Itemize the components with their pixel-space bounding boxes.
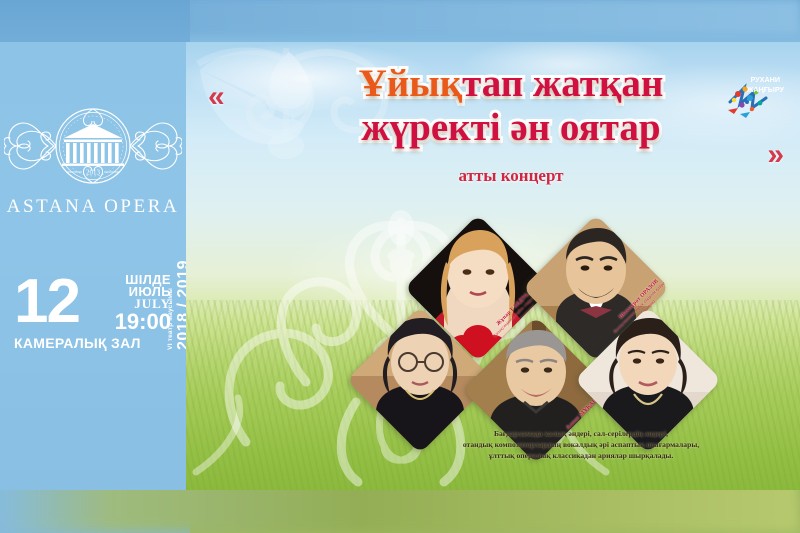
venue-hall: КАМЕРАЛЫҚ ЗАЛ [14,335,189,351]
rukhani-line2: ЖАҢҒЫРУ [746,85,785,94]
description-line-1: Бағдарламада халық әндері, сал-серілерді… [416,428,746,439]
concert-subtitle: атты концерт [286,166,736,186]
season-label: VI театр маусымы [167,288,174,350]
theater-name: ASTANA OPERA [7,196,180,218]
theater-info-panel: 2013 [0,42,186,490]
title-lead: Ұйық [359,62,463,105]
event-date-block: 12 ШІЛДЕ ИЮЛЬ JULY 19:00 КАМЕРАЛЫҚ ЗАЛ V… [14,272,189,356]
program-description: Бағдарламада халық әндері, сал-серілерді… [416,428,746,461]
rukhani-line1: РУХАНИ [750,75,780,84]
guillemet-close: » [767,138,784,172]
description-line-3: ұлттық опералық классикадан ариялар шырқ… [416,450,746,461]
title-line-1: Ұйықтап жатқан [349,62,674,106]
event-time: 19:00 [115,311,171,333]
concert-poster: РУХАНИ ЖАҢҒЫРУ « » Ұйықтап жатқан жүрект… [186,42,800,490]
description-line-2: отандық композиторлардың вокалдық әрі ас… [416,439,746,450]
concert-title: Ұйықтап жатқан жүректі ән оятар [286,62,736,150]
guillemet-open: « [208,80,225,114]
astana-opera-logo: 2013 [0,102,186,218]
title-tail: тап жатқан [462,62,663,105]
event-day: 12 [14,272,79,332]
opera-house-icon: 2013 [4,102,182,190]
logo-year: 2013 [86,169,101,177]
title-line-2: жүректі ән оятар [351,106,670,150]
